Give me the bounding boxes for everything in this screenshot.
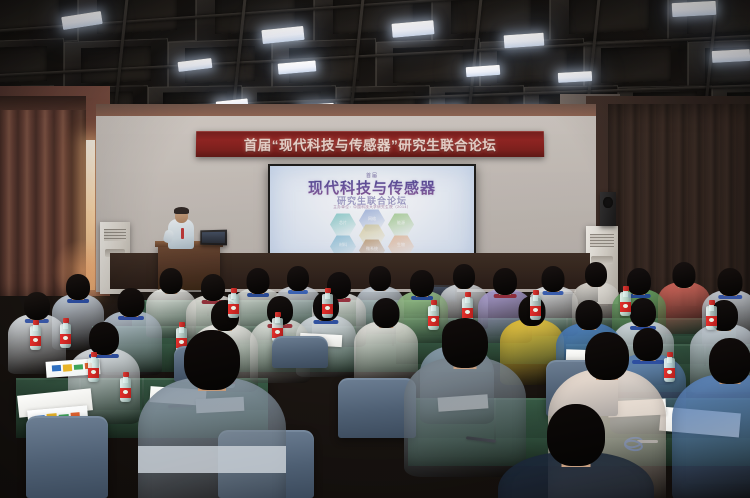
bottle-cap (179, 322, 185, 327)
event-banner: 首届“现代科技与传感器”研究生联合论坛 (196, 131, 544, 157)
attendee-head (453, 264, 475, 289)
bottle-cap (431, 300, 437, 305)
chair-back (26, 416, 108, 498)
water-bottle (30, 320, 41, 350)
bottle-cap (275, 312, 281, 317)
bottle-label (620, 302, 631, 312)
attendee-head (585, 262, 607, 287)
ceiling-light (504, 33, 545, 49)
bottle-neck (63, 322, 68, 329)
water-bottle (620, 286, 631, 316)
attendee-foreground-grey-polo (138, 330, 286, 498)
bottle-neck (231, 292, 236, 299)
bottle-cap (465, 292, 471, 297)
bottle-neck (123, 376, 128, 383)
bottle-label (322, 304, 333, 314)
bottle-neck (91, 356, 96, 363)
attendee-head (673, 262, 696, 288)
water-bottle (530, 290, 541, 320)
bottle-label (30, 336, 41, 346)
bottle-neck (33, 324, 38, 331)
ceiling-light (558, 71, 592, 83)
water-bottle (60, 318, 71, 348)
attendee-head (369, 266, 391, 291)
attendee-foreground-navy-polo (498, 404, 654, 498)
water-bottle (88, 352, 99, 382)
attendee-head (542, 266, 565, 292)
brochure-graphic (74, 364, 83, 370)
presenter-hair (174, 207, 189, 214)
attendee-torso (138, 377, 286, 498)
bottle-label (530, 306, 541, 316)
bottle-neck (623, 290, 628, 297)
hex-sensor-chip-icon: 芯片 (330, 213, 356, 236)
bottle-cap (325, 288, 331, 293)
bottle-neck (325, 292, 330, 299)
ceiling-light (712, 49, 750, 63)
attendee-head (287, 266, 309, 291)
attendee-head (184, 330, 240, 390)
attendee-head (709, 338, 750, 384)
ceiling-soffit (96, 104, 596, 116)
attendee-head (160, 268, 183, 294)
bottle-cap (533, 290, 539, 295)
hex-label: 生物 (388, 242, 414, 248)
hex-label: 能源 (388, 220, 414, 226)
attendee-head (576, 300, 603, 330)
attendee-head (118, 288, 145, 317)
ac-vent-icon (590, 234, 614, 247)
event-banner-text: 首届“现代科技与传感器”研究生联合论坛 (244, 134, 497, 154)
attendee-foreground-plaid-shirt (672, 338, 750, 498)
bottle-label (88, 368, 99, 378)
attendee-head (547, 404, 605, 466)
slide-subtitle-secondary: 主办单位：中国科技大学研究生院（2014） (270, 205, 474, 210)
attendee-head (718, 268, 743, 296)
wall-mounted-speaker (600, 192, 616, 226)
bottle-cap (33, 320, 39, 325)
brochure-graphic (63, 364, 72, 372)
hex-label: 芯片 (330, 220, 356, 226)
bottle-neck (709, 304, 714, 311)
water-bottle (322, 288, 333, 318)
hex-label: 网络 (359, 216, 385, 222)
bottle-neck (465, 296, 470, 303)
bottle-neck (431, 304, 436, 311)
bottle-label (462, 308, 473, 318)
water-bottle (120, 372, 131, 402)
attendee-head (410, 270, 434, 297)
bottle-neck (275, 316, 280, 323)
ac-vent-icon (104, 229, 127, 241)
ceiling-light (672, 1, 717, 17)
attendee-head (493, 268, 517, 295)
attendee-head (630, 298, 656, 327)
water-bottle (228, 288, 239, 318)
bottle-label (228, 304, 239, 314)
bottle-cap (63, 318, 69, 323)
bottle-label (60, 334, 71, 344)
conference-hall-photo: 首届“现代科技与传感器”研究生联合论坛 首届 现代科技与传感器 研究生联合论坛 … (0, 0, 750, 498)
brochure-graphic (52, 365, 61, 371)
projection-screen: 首届 现代科技与传感器 研究生联合论坛 主办单位：中国科技大学研究生院（2014… (270, 166, 474, 266)
hex-energy-icon: 能源 (388, 213, 414, 236)
hex-label: 材料 (330, 242, 356, 248)
bottle-cap (623, 286, 629, 291)
hex-label: 微系统 (359, 246, 385, 252)
attendee-head (442, 318, 488, 368)
bottle-label (120, 388, 131, 398)
presenter-lanyard (181, 228, 184, 239)
laptop-screen (202, 232, 225, 243)
attendee-head (201, 274, 225, 301)
attendee-head (24, 292, 50, 320)
bottle-cap (231, 288, 237, 293)
attendee-head (247, 268, 270, 294)
attendee-torso (672, 374, 750, 498)
bottle-label (706, 316, 717, 326)
attendee-head (66, 274, 90, 300)
bottle-cap (123, 372, 129, 377)
bottle-cap (91, 352, 97, 357)
podium-laptop (200, 230, 227, 246)
attendee-head (89, 322, 119, 355)
water-bottle (706, 300, 717, 330)
bottle-neck (533, 294, 538, 301)
attendee-head (585, 332, 629, 380)
attendee-head (373, 298, 400, 328)
bottle-cap (709, 300, 715, 305)
shirt-stripe (138, 446, 286, 473)
